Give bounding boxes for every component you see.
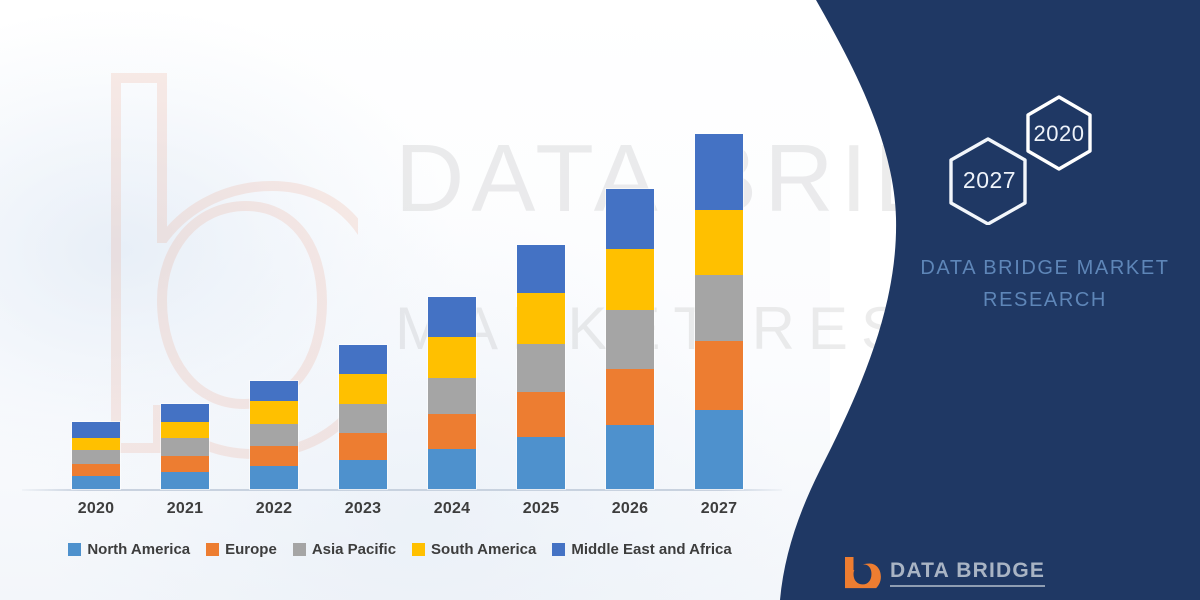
brand-line-1: DATA BRIDGE MARKET bbox=[900, 252, 1190, 284]
bar-segment-2022-north-america[interactable] bbox=[250, 466, 298, 489]
x-tick-2026: 2026 bbox=[606, 500, 654, 518]
legend-swatch-icon bbox=[552, 543, 565, 556]
bar-segment-2020-asia-pacific[interactable] bbox=[72, 450, 120, 463]
bar-2021[interactable] bbox=[161, 404, 209, 489]
bar-segment-2026-europe[interactable] bbox=[606, 369, 654, 425]
bar-segment-2024-south-america[interactable] bbox=[428, 337, 476, 378]
bar-segment-2023-north-america[interactable] bbox=[339, 460, 387, 489]
bar-segment-2023-south-america[interactable] bbox=[339, 374, 387, 403]
bar-2026[interactable] bbox=[606, 189, 654, 489]
legend-swatch-icon bbox=[412, 543, 425, 556]
x-tick-2023: 2023 bbox=[339, 500, 387, 518]
footer-logo: DATA BRIDGE bbox=[843, 556, 1045, 590]
bar-segment-2026-asia-pacific[interactable] bbox=[606, 310, 654, 369]
legend-label: South America bbox=[431, 541, 536, 558]
bar-segment-2020-south-america[interactable] bbox=[72, 438, 120, 450]
bar-segment-2025-middle-east-and-africa[interactable] bbox=[517, 245, 565, 293]
bar-segment-2026-north-america[interactable] bbox=[606, 425, 654, 489]
brand-title: DATA BRIDGE MARKET RESEARCH bbox=[900, 252, 1190, 316]
legend-item-middle-east-and-africa[interactable]: Middle East and Africa bbox=[552, 541, 731, 558]
x-tick-2024: 2024 bbox=[428, 500, 476, 518]
bar-segment-2026-south-america[interactable] bbox=[606, 249, 654, 310]
bar-segment-2021-middle-east-and-africa[interactable] bbox=[161, 404, 209, 423]
bar-segment-2022-asia-pacific[interactable] bbox=[250, 424, 298, 447]
bar-segment-2024-asia-pacific[interactable] bbox=[428, 378, 476, 414]
x-tick-2020: 2020 bbox=[72, 500, 120, 518]
bar-2024[interactable] bbox=[428, 297, 476, 489]
bar-segment-2021-asia-pacific[interactable] bbox=[161, 438, 209, 455]
bar-segment-2023-asia-pacific[interactable] bbox=[339, 404, 387, 433]
bar-segment-2025-north-america[interactable] bbox=[517, 437, 565, 489]
bar-segment-2021-europe[interactable] bbox=[161, 456, 209, 472]
bar-segment-2020-north-america[interactable] bbox=[72, 476, 120, 489]
x-axis-line bbox=[22, 489, 782, 491]
x-tick-2021: 2021 bbox=[161, 500, 209, 518]
legend-item-europe[interactable]: Europe bbox=[206, 541, 277, 558]
hexagon-2027-label: 2027 bbox=[942, 167, 1037, 194]
bar-segment-2027-middle-east-and-africa[interactable] bbox=[695, 134, 743, 210]
bar-segment-2023-europe[interactable] bbox=[339, 433, 387, 460]
bar-segment-2025-asia-pacific[interactable] bbox=[517, 344, 565, 392]
bar-2025[interactable] bbox=[517, 245, 565, 489]
footer-logo-wordmark: DATA BRIDGE bbox=[890, 559, 1045, 587]
legend-swatch-icon bbox=[68, 543, 81, 556]
legend-label: Middle East and Africa bbox=[571, 541, 731, 558]
bar-segment-2027-asia-pacific[interactable] bbox=[695, 275, 743, 340]
data-bridge-mark-icon bbox=[843, 556, 881, 590]
bar-2023[interactable] bbox=[339, 345, 387, 489]
chart-legend: North AmericaEuropeAsia PacificSouth Ame… bbox=[0, 541, 800, 558]
x-tick-2027: 2027 bbox=[695, 500, 743, 518]
bar-segment-2024-north-america[interactable] bbox=[428, 449, 476, 489]
x-tick-2022: 2022 bbox=[250, 500, 298, 518]
bar-segment-2024-europe[interactable] bbox=[428, 414, 476, 449]
bar-segment-2020-europe[interactable] bbox=[72, 464, 120, 476]
x-axis-tick-labels: 20202021202220232024202520262027 bbox=[0, 500, 800, 528]
bar-segment-2027-south-america[interactable] bbox=[695, 210, 743, 275]
bar-segment-2021-north-america[interactable] bbox=[161, 472, 209, 489]
hexagon-badges: 2020 2027 bbox=[930, 95, 1120, 225]
bar-segment-2025-south-america[interactable] bbox=[517, 293, 565, 344]
bar-segment-2020-middle-east-and-africa[interactable] bbox=[72, 422, 120, 438]
bar-segment-2022-europe[interactable] bbox=[250, 446, 298, 466]
legend-swatch-icon bbox=[206, 543, 219, 556]
bar-2020[interactable] bbox=[72, 422, 120, 489]
bar-segment-2023-middle-east-and-africa[interactable] bbox=[339, 345, 387, 374]
bar-segment-2027-europe[interactable] bbox=[695, 341, 743, 410]
chart-canvas: DATA BRIDGE MARKET RESEARCH 202020212022… bbox=[0, 0, 1200, 600]
stacked-bar-chart: 20202021202220232024202520262027 North A… bbox=[0, 0, 800, 600]
legend-item-asia-pacific[interactable]: Asia Pacific bbox=[293, 541, 396, 558]
bar-segment-2022-middle-east-and-africa[interactable] bbox=[250, 381, 298, 401]
bar-segment-2024-middle-east-and-africa[interactable] bbox=[428, 297, 476, 337]
bar-2022[interactable] bbox=[250, 381, 298, 489]
legend-item-north-america[interactable]: North America bbox=[68, 541, 190, 558]
legend-item-south-america[interactable]: South America bbox=[412, 541, 536, 558]
bar-segment-2022-south-america[interactable] bbox=[250, 401, 298, 424]
legend-swatch-icon bbox=[293, 543, 306, 556]
x-tick-2025: 2025 bbox=[517, 500, 565, 518]
bar-segment-2025-europe[interactable] bbox=[517, 392, 565, 437]
bar-segment-2027-north-america[interactable] bbox=[695, 410, 743, 489]
bar-2027[interactable] bbox=[695, 134, 743, 489]
legend-label: Europe bbox=[225, 541, 277, 558]
bar-segment-2026-middle-east-and-africa[interactable] bbox=[606, 189, 654, 249]
legend-label: Asia Pacific bbox=[312, 541, 396, 558]
brand-line-2: RESEARCH bbox=[900, 284, 1190, 316]
bar-segment-2021-south-america[interactable] bbox=[161, 422, 209, 438]
hexagon-2020-label: 2020 bbox=[1013, 121, 1105, 147]
legend-label: North America bbox=[87, 541, 190, 558]
